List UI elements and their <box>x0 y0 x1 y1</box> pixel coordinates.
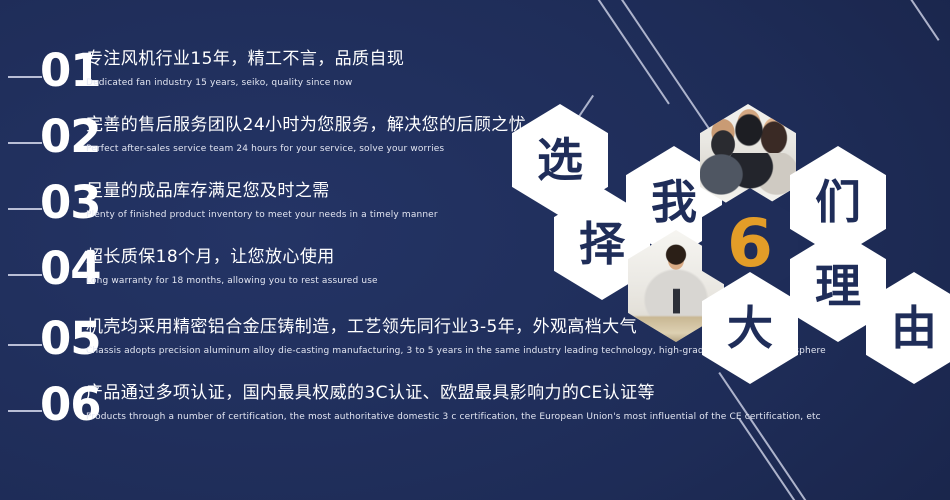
hex-label-wo: 我 <box>651 179 697 225</box>
reason-headline-cn: 完善的售后服务团队24小时为您服务，解决您的后顾之忧 <box>86 115 526 135</box>
reason-dash-icon <box>8 410 42 412</box>
hex-label-ze: 择 <box>579 221 625 267</box>
reason-subtitle-en: Dedicated fan industry 15 years, seiko, … <box>86 78 352 88</box>
reason-subtitle-en: Plenty of finished product inventory to … <box>86 210 438 220</box>
reason-text-block: 完善的售后服务团队24小时为您服务，解决您的后顾之忧 Perfect after… <box>86 113 526 156</box>
reason-text-block: 专注风机行业15年，精工不言，品质自现 Dedicated fan indust… <box>86 47 404 90</box>
reason-dash-icon <box>8 344 42 346</box>
reason-headline-cn: 超长质保18个月，让您放心使用 <box>86 247 335 267</box>
reason-headline-cn: 机壳均采用精密铝合金压铸制造，工艺领先同行业3-5年，外观高档大气 <box>86 317 637 337</box>
reason-dash-icon <box>8 76 42 78</box>
reason-item[interactable]: 06 产品通过多项认证，国内最具权威的3C认证、欧盟最具影响力的CE认证等 Pr… <box>0 380 860 448</box>
reason-subtitle-en: Perfect after-sales service team 24 hour… <box>86 144 444 154</box>
reason-dash-icon <box>8 274 42 276</box>
reason-headline-cn: 足量的成品库存满足您及时之需 <box>86 181 330 201</box>
reason-text-block: 足量的成品库存满足您及时之需 Plenty of finished produc… <box>86 179 438 222</box>
hex-label-you: 由 <box>891 305 937 351</box>
reason-headline-cn: 产品通过多项认证，国内最具权威的3C认证、欧盟最具影响力的CE认证等 <box>86 383 655 403</box>
hex-label-li: 理 <box>815 263 861 309</box>
diagonal-line-top-3 <box>904 0 939 41</box>
hex-label-six: 6 <box>727 211 773 277</box>
reason-subtitle-en: Long warranty for 18 months, allowing yo… <box>86 276 378 286</box>
reason-text-block: 产品通过多项认证，国内最具权威的3C认证、欧盟最具影响力的CE认证等 Produ… <box>86 381 821 424</box>
reason-item[interactable]: 01 专注风机行业15年，精工不言，品质自现 Dedicated fan ind… <box>0 46 860 114</box>
reason-headline-cn: 专注风机行业15年，精工不言，品质自现 <box>86 49 404 69</box>
reason-text-block: 超长质保18个月，让您放心使用 Long warranty for 18 mon… <box>86 245 378 288</box>
hex-label-men: 们 <box>815 179 861 225</box>
poster-canvas: 01 专注风机行业15年，精工不言，品质自现 Dedicated fan ind… <box>0 0 950 500</box>
hex-label-da: 大 <box>727 305 773 351</box>
reason-dash-icon <box>8 142 42 144</box>
hex-label-xuan: 选 <box>537 137 583 183</box>
reason-subtitle-en: Products through a number of certificati… <box>86 412 821 422</box>
reason-dash-icon <box>8 208 42 210</box>
